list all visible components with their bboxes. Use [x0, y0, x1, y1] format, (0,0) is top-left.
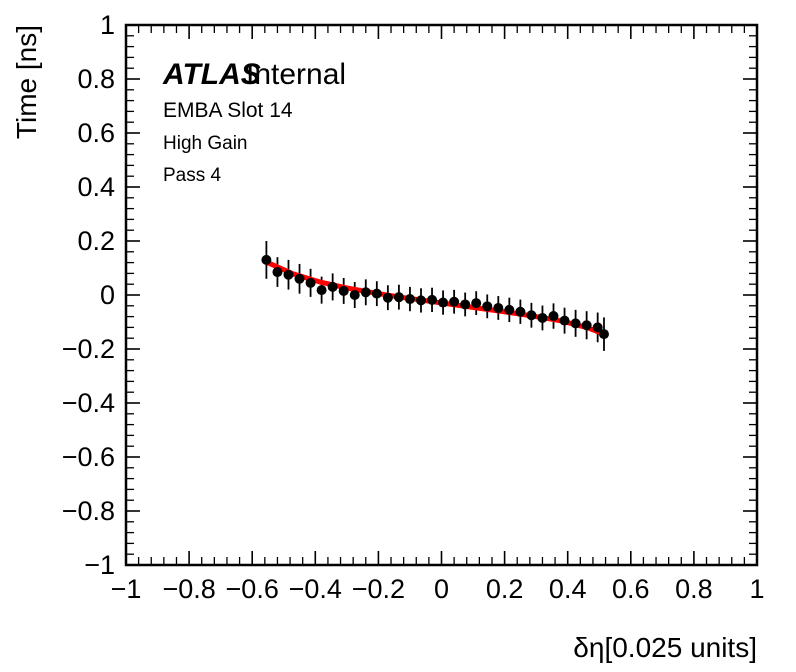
x-tick-label: −0.8	[162, 574, 215, 604]
x-tick-label: 0.2	[486, 574, 524, 604]
data-point	[339, 286, 349, 296]
data-point	[317, 285, 327, 295]
y-tick-label: 0.8	[77, 64, 115, 94]
y-tick-label: −0.2	[62, 334, 115, 364]
data-point	[493, 303, 503, 313]
x-tick-label: 0.6	[612, 574, 650, 604]
data-point	[460, 299, 470, 309]
data-point	[599, 329, 609, 339]
y-tick-label: 0	[100, 280, 115, 310]
marker-group	[261, 255, 609, 339]
y-tick-label: 1	[100, 10, 115, 40]
y-tick-label: −0.8	[62, 496, 115, 526]
figure-canvas: −1−0.8−0.6−0.4−0.200.20.40.60.81−1−0.8−0…	[0, 0, 796, 672]
data-point	[416, 295, 426, 305]
data-point	[537, 313, 547, 323]
x-tick-label: −0.2	[352, 574, 405, 604]
chart-plot: −1−0.8−0.6−0.4−0.200.20.40.60.81−1−0.8−0…	[0, 0, 796, 672]
y-axis-title: Time [ns]	[11, 25, 42, 139]
y-tick-label: 0.4	[77, 172, 115, 202]
slot-label: EMBA Slot 14	[163, 99, 293, 122]
data-point	[405, 294, 415, 304]
x-tick-label: −0.6	[226, 574, 279, 604]
annotation-group: ATLAS Internal EMBA Slot 14 High Gain Pa…	[11, 25, 757, 663]
x-tick-label: 0.4	[549, 574, 587, 604]
data-point	[515, 307, 525, 317]
data-point	[295, 274, 305, 284]
data-point	[526, 310, 536, 320]
data-point	[560, 316, 570, 326]
x-tick-label: −0.4	[289, 574, 342, 604]
data-point	[350, 290, 360, 300]
data-point	[582, 320, 592, 330]
data-point	[571, 318, 581, 328]
x-tick-label: 0.8	[675, 574, 713, 604]
gain-label: High Gain	[163, 133, 248, 154]
x-axis-title: δη[0.025 units]	[573, 632, 757, 663]
y-tick-label: 0.2	[77, 226, 115, 256]
data-point	[361, 287, 371, 297]
data-point	[504, 305, 514, 315]
errorbar-group	[266, 241, 604, 351]
data-point	[372, 289, 382, 299]
atlas-status-label: Internal	[246, 58, 346, 91]
x-tick-label: −1	[111, 574, 142, 604]
data-point	[449, 297, 459, 307]
y-tick-label: 0.6	[77, 118, 115, 148]
data-point	[283, 270, 293, 280]
data-point	[427, 295, 437, 305]
y-tick-label: −1	[84, 550, 115, 580]
x-tick-label: 1	[749, 574, 764, 604]
data-point	[471, 298, 481, 308]
x-tick-label: 0	[434, 574, 449, 604]
data-point	[306, 278, 316, 288]
data-point	[328, 282, 338, 292]
data-point	[261, 255, 271, 265]
data-point	[549, 311, 559, 321]
data-point	[383, 293, 393, 303]
data-group	[261, 241, 609, 351]
y-tick-label: −0.6	[62, 442, 115, 472]
pass-label: Pass 4	[163, 165, 222, 186]
data-point	[394, 292, 404, 302]
y-tick-label: −0.4	[62, 388, 115, 418]
data-point	[272, 267, 282, 277]
data-point	[482, 301, 492, 311]
data-point	[438, 298, 448, 308]
